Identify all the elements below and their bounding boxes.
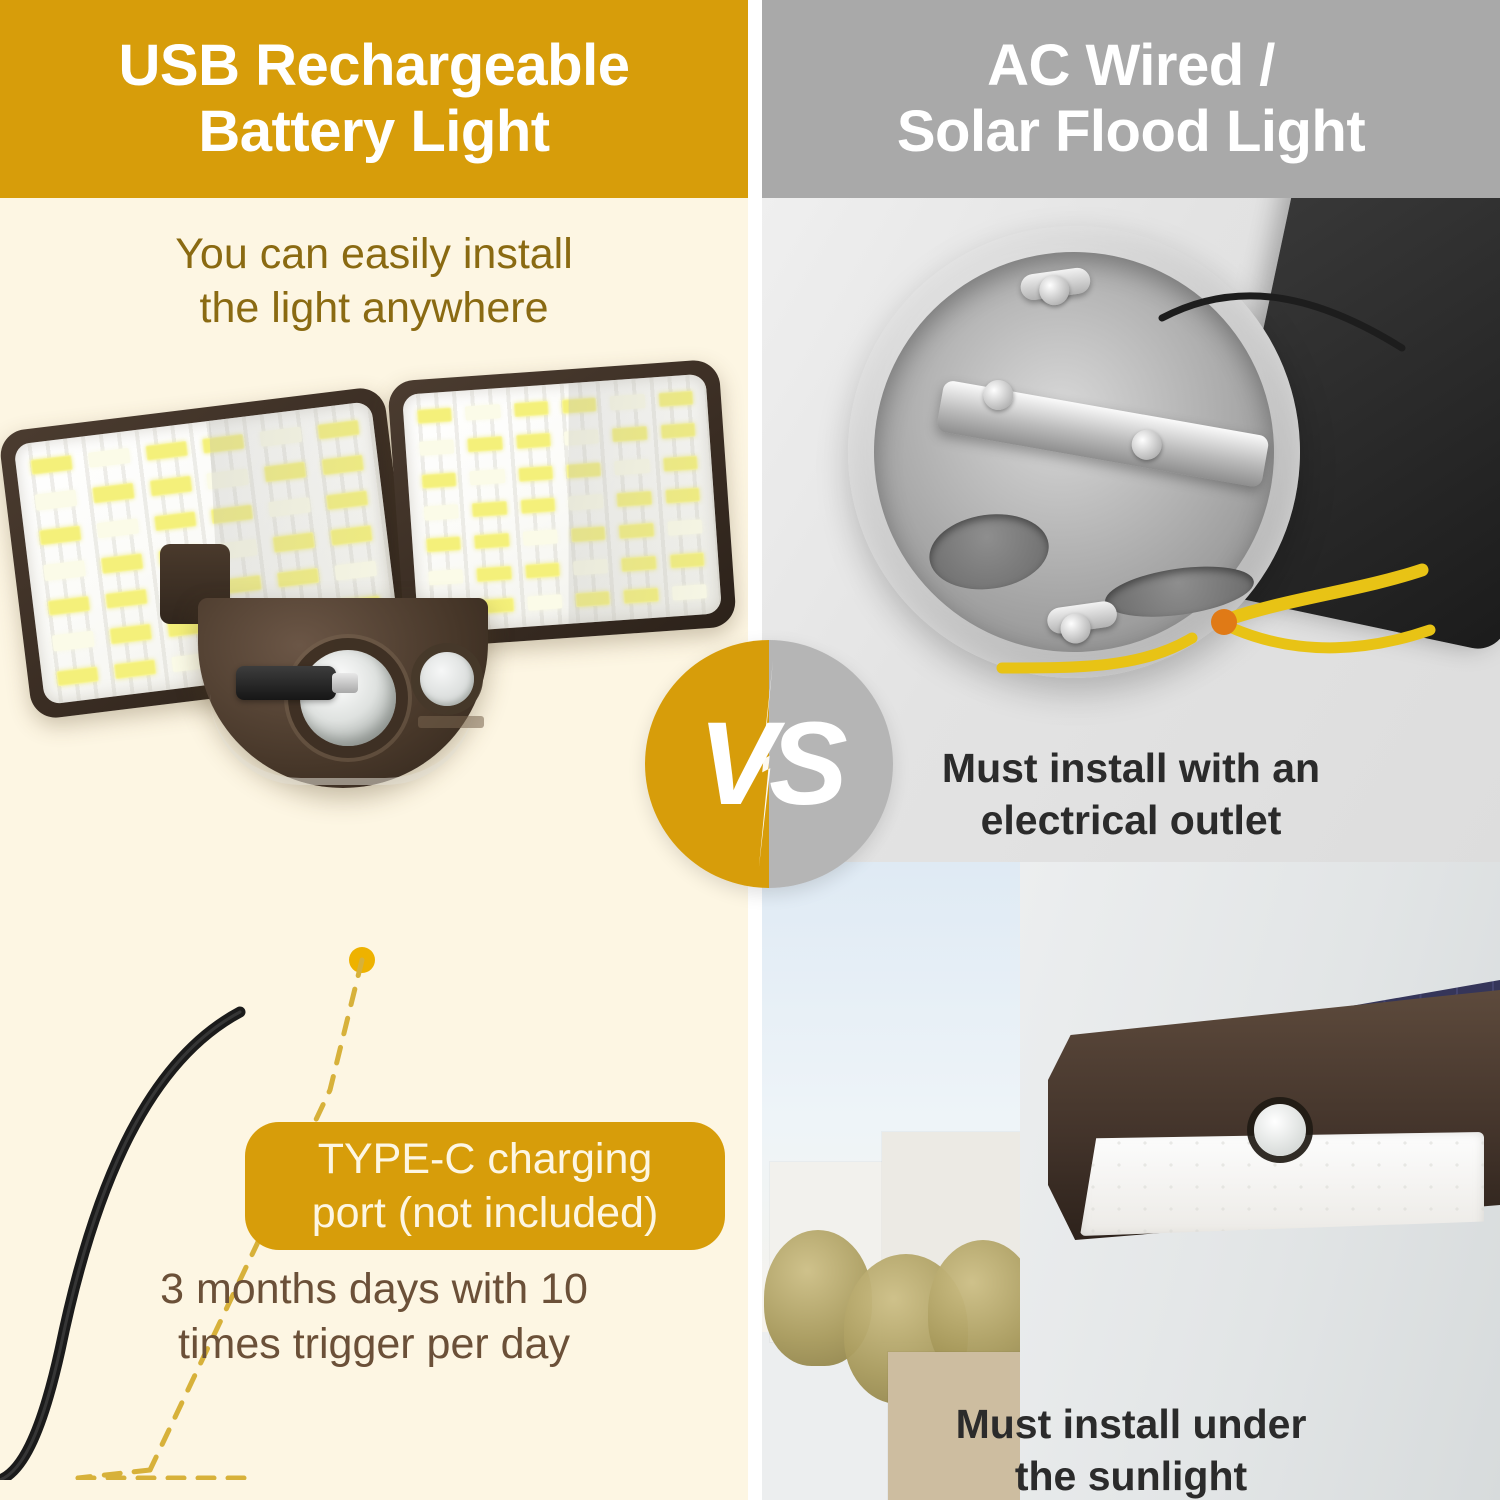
light-sensor-icon — [420, 652, 474, 706]
motion-sensor-icon — [1254, 1104, 1306, 1156]
usb-c-plug-icon — [236, 666, 336, 700]
solar-caption: Must install under the sunlight — [762, 1398, 1500, 1500]
lens-glare — [569, 374, 722, 635]
led-lens-right — [402, 374, 722, 635]
battery-runtime-note: 3 months days with 10 times trigger per … — [0, 1262, 748, 1372]
left-panel-subtitle: You can easily install the light anywher… — [0, 228, 748, 336]
left-panel-header: USB Rechargeable Battery Light — [0, 0, 748, 198]
type-c-callout-badge: TYPE-C charging port (not included) — [245, 1122, 725, 1250]
left-panel-title: USB Rechargeable Battery Light — [119, 33, 630, 165]
vs-badge: VS — [645, 640, 893, 888]
right-panel-header: AC Wired / Solar Flood Light — [762, 0, 1500, 198]
vs-badge-label: VS — [645, 640, 893, 888]
comparison-infographic: USB Rechargeable Battery Light You can e… — [0, 0, 1500, 1500]
brand-mark — [418, 716, 484, 728]
right-panel-title: AC Wired / Solar Flood Light — [897, 33, 1365, 165]
type-c-callout-label: TYPE-C charging port (not included) — [312, 1132, 659, 1240]
product-illustration-battery-light — [0, 330, 748, 890]
left-panel-usb-rechargeable: USB Rechargeable Battery Light You can e… — [0, 0, 748, 1500]
